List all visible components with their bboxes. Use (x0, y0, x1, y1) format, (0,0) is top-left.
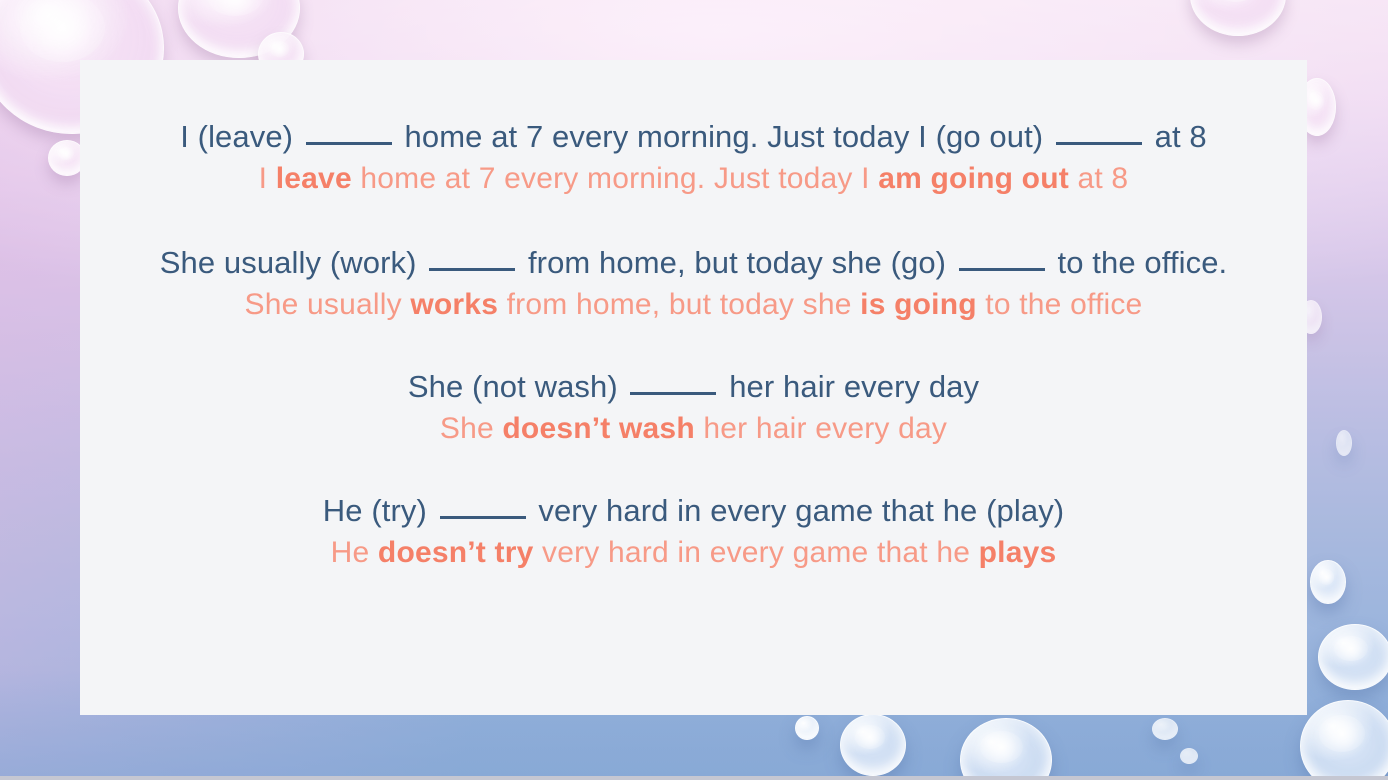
exercise-prompt: I (leave) home at 7 every morning. Just … (104, 116, 1283, 158)
answer-highlight: doesn’t try (378, 536, 534, 569)
exercise-prompt: She (not wash) her hair every day (104, 366, 1283, 408)
exercise-answer: She doesn’t wash her hair every day (104, 408, 1283, 450)
answer-highlight: is going (860, 288, 977, 321)
spacer (104, 450, 1283, 490)
content-card: I (leave) home at 7 every morning. Just … (80, 60, 1307, 715)
answer-blank[interactable] (306, 116, 392, 145)
spacer (104, 326, 1283, 366)
exercise-block: I (leave) home at 7 every morning. Just … (104, 116, 1283, 200)
answer-highlight: plays (979, 536, 1057, 569)
answer-blank[interactable] (630, 366, 716, 395)
slide-bottom-edge (0, 776, 1388, 780)
spacer (104, 200, 1283, 242)
slide: I (leave) home at 7 every morning. Just … (0, 0, 1388, 780)
exercise-answer: She usually works from home, but today s… (104, 284, 1283, 326)
answer-blank[interactable] (429, 242, 515, 271)
exercise-block: She (not wash) her hair every day She do… (104, 366, 1283, 450)
exercise-answer: He doesn’t try very hard in every game t… (104, 532, 1283, 574)
answer-blank[interactable] (959, 242, 1045, 271)
exercise-prompt: She usually (work) from home, but today … (104, 242, 1283, 284)
answer-blank[interactable] (1056, 116, 1142, 145)
answer-highlight: leave (276, 162, 352, 195)
answer-blank[interactable] (440, 490, 526, 519)
answer-highlight: doesn’t wash (502, 412, 694, 445)
exercise-prompt: He (try) very hard in every game that he… (104, 490, 1283, 532)
exercise-block: He (try) very hard in every game that he… (104, 490, 1283, 574)
exercise-block: She usually (work) from home, but today … (104, 242, 1283, 326)
exercise-answer: I leave home at 7 every morning. Just to… (104, 158, 1283, 200)
answer-highlight: am going out (878, 162, 1069, 195)
answer-highlight: works (410, 288, 498, 321)
